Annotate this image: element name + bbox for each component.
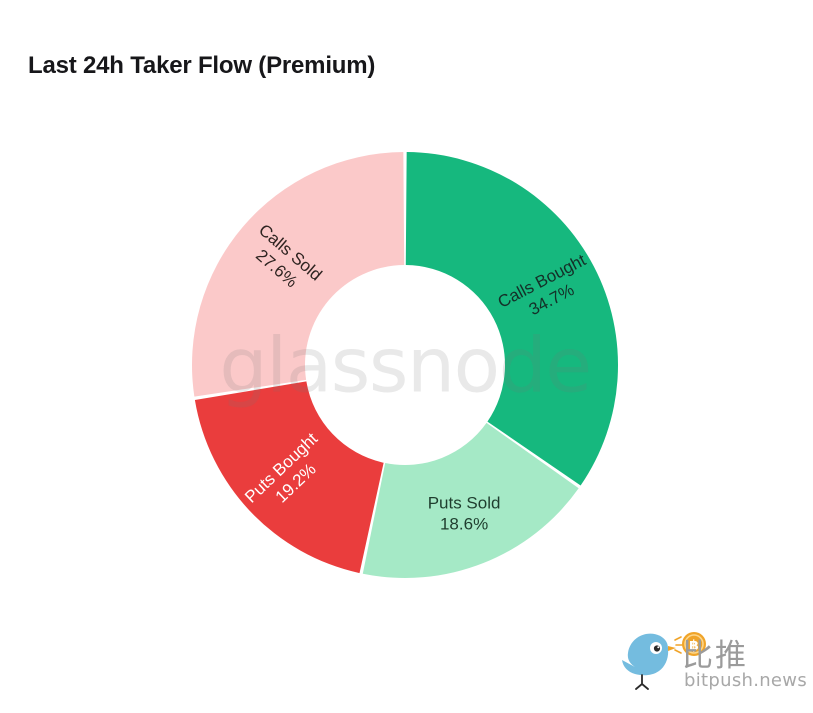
donut-chart-svg: [0, 0, 813, 708]
slice-label: Puts Sold18.6%: [428, 493, 501, 534]
brand-name-cn: 比推: [682, 630, 748, 675]
slice-label-name: Puts Sold: [428, 493, 501, 514]
slice-label-value: 18.6%: [428, 514, 501, 535]
bird-icon: [622, 634, 682, 689]
donut-chart: [0, 0, 813, 708]
donut-slice-group: [192, 152, 618, 578]
brand-url: bitpush.news: [684, 670, 807, 691]
